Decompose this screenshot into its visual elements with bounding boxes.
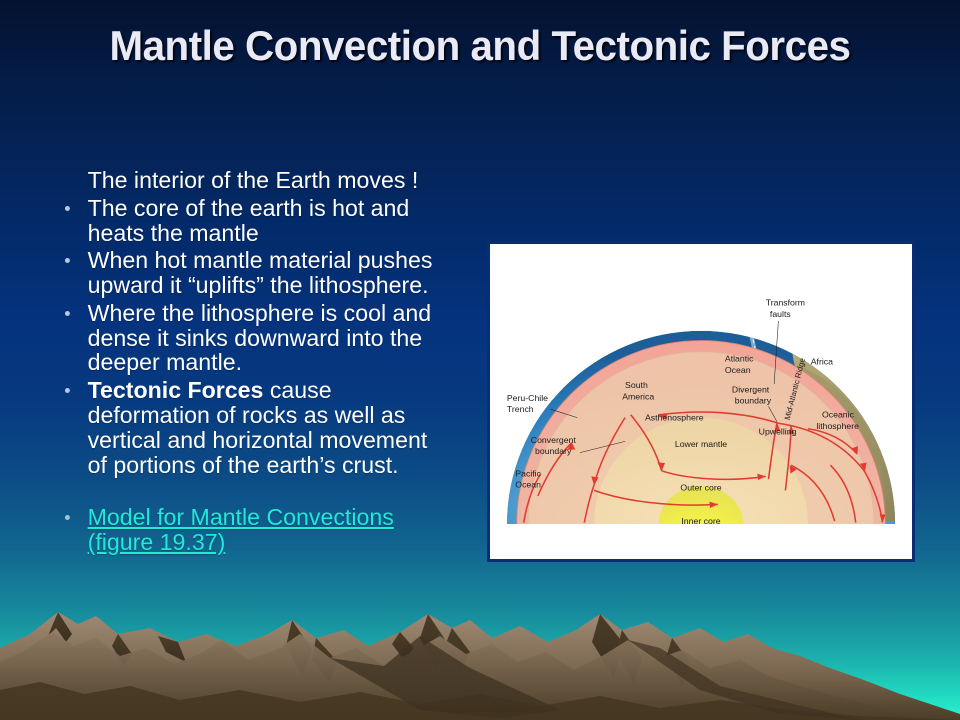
label-lower-mantle: Lower mantle: [675, 439, 727, 449]
body-paragraph-3: When hot mantle material pushes upward i…: [62, 248, 436, 298]
mountain-shadow-7: [420, 614, 448, 670]
page-title: Mantle Convection and Tectonic Forces: [58, 22, 903, 69]
mountain-shadow-10: [616, 630, 642, 684]
body-paragraph-2: The core of the earth is hot and heats t…: [62, 196, 436, 246]
label-atlantic-ocean-line1: Atlantic: [725, 354, 754, 364]
body-paragraph-1: The interior of the Earth moves !: [62, 168, 436, 193]
mountain-back-ridge: [0, 612, 960, 720]
label-pacific-ocean-line1: Pacific: [515, 468, 541, 478]
label-atlantic-ocean-line2: Ocean: [725, 365, 751, 375]
label-inner-core: Inner core: [681, 516, 720, 526]
label-outer-core: Outer core: [680, 482, 721, 492]
mountain-shadow-8: [444, 628, 470, 674]
label-south-america-line1: South: [625, 380, 648, 390]
label-transform-faults-line1: Transform: [766, 298, 805, 308]
earth-cross-section-figure: Peru-Chile Trench Convergent boundary Pa…: [487, 241, 915, 562]
label-asthenosphere: Asthenosphere: [645, 412, 704, 422]
label-africa: Africa: [811, 356, 833, 366]
mountain-shadow-1: [48, 612, 72, 642]
label-south-america-line2: America: [622, 391, 654, 401]
mountain-front-massif: [0, 682, 960, 720]
label-transform-faults-line2: faults: [770, 309, 791, 319]
mountain-shadow-3: [158, 636, 186, 662]
mountain-shadow-9: [592, 614, 624, 678]
mountain-landscape: [0, 590, 960, 720]
mountain-right-shadow: [628, 640, 860, 720]
earth-cross-section-svg: Peru-Chile Trench Convergent boundary Pa…: [490, 244, 912, 559]
label-convergent-boundary-line2: boundary: [535, 446, 572, 456]
body-text-column: The interior of the Earth moves ! The co…: [62, 168, 442, 558]
mountain-shadow-11: [666, 638, 690, 686]
label-divergent-boundary-line2: boundary: [735, 396, 772, 406]
label-upwelling: Upwelling: [759, 426, 797, 436]
mountain-shadow-6: [392, 632, 414, 660]
body-paragraph-5: Tectonic Forces cause deformation of roc…: [62, 378, 436, 477]
mountain-shadow-5: [312, 638, 338, 682]
label-oceanic-lithosphere-line1: Oceanic: [822, 410, 855, 420]
slide: Mantle Convection and Tectonic Forces Th…: [0, 0, 960, 720]
mountain-mid-ridge: [0, 632, 960, 720]
label-divergent-boundary-line1: Divergent: [732, 384, 770, 394]
model-link-paragraph: Model for Mantle Convections (figure 19.…: [62, 505, 436, 555]
label-pacific-ocean-line2: Ocean: [515, 480, 541, 490]
tectonic-forces-emphasis: Tectonic Forces: [88, 377, 264, 403]
mountain-shadow-4: [286, 620, 312, 676]
label-oceanic-lithosphere-line2: lithosphere: [816, 421, 859, 431]
mountain-shadow-2: [112, 634, 132, 666]
label-peru-chile-trench-line2: Trench: [507, 404, 534, 414]
body-paragraph-4: Where the lithosphere is cool and dense …: [62, 301, 436, 375]
label-peru-chile-trench-line1: Peru-Chile: [507, 393, 548, 403]
model-for-mantle-convections-link[interactable]: Model for Mantle Convections (figure 19.…: [88, 504, 394, 555]
mountain-central-shadow: [330, 636, 560, 718]
label-convergent-boundary-line1: Convergent: [531, 435, 577, 445]
